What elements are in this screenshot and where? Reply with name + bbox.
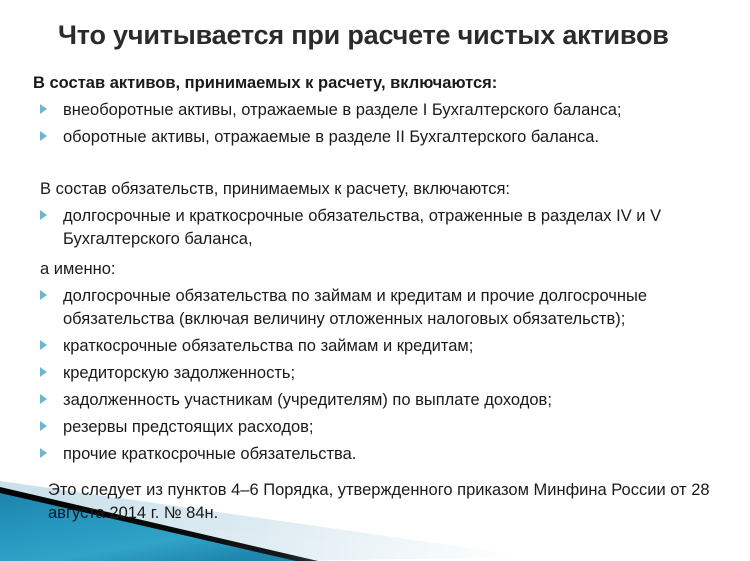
- assets-bullet-2: оборотные активы, отражаемые в разделе I…: [0, 126, 750, 149]
- liabilities-bullet-1-label: долгосрочные и краткосрочные обязательст…: [63, 205, 736, 251]
- obligation-bullet-1-label: долгосрочные обязательства по займам и к…: [63, 285, 736, 331]
- obligation-bullet-6: прочие краткосрочные обязательства.: [0, 443, 750, 466]
- triangle-bullet-icon: [40, 290, 47, 300]
- spacer: [0, 251, 750, 258]
- liabilities-section-lead: В состав обязательств, принимаемых к рас…: [0, 178, 750, 201]
- liabilities-bullet-1: долгосрочные и краткосрочные обязательст…: [0, 205, 750, 251]
- obligation-bullet-6-label: прочие краткосрочные обязательства.: [63, 443, 736, 466]
- obligation-bullet-4-label: задолженность участникам (учредителям) п…: [63, 389, 736, 412]
- obligation-bullet-3-label: кредиторскую задолженность;: [63, 362, 736, 385]
- triangle-bullet-icon: [40, 131, 47, 141]
- source-reference-text: Это следует из пунктов 4–6 Порядка, утве…: [0, 479, 750, 525]
- triangle-bullet-icon: [40, 421, 47, 431]
- assets-section-lead: В состав активов, принимаемых к расчету,…: [0, 72, 750, 95]
- triangle-bullet-icon: [40, 394, 47, 404]
- triangle-bullet-icon: [40, 448, 47, 458]
- slide-body: В состав активов, принимаемых к расчету,…: [0, 72, 750, 525]
- obligation-bullet-5: резервы предстоящих расходов;: [0, 416, 750, 439]
- obligation-bullet-2-label: краткосрочные обязательства по займам и …: [63, 335, 736, 358]
- namely-note: а именно:: [0, 258, 750, 281]
- obligation-bullet-3: кредиторскую задолженность;: [0, 362, 750, 385]
- section-spacer: [0, 149, 750, 178]
- triangle-bullet-icon: [40, 340, 47, 350]
- obligation-bullet-2: краткосрочные обязательства по займам и …: [0, 335, 750, 358]
- triangle-bullet-icon: [40, 367, 47, 377]
- slide-canvas: Что учитывается при расчете чистых актив…: [0, 0, 750, 561]
- obligation-bullet-4: задолженность участникам (учредителям) п…: [0, 389, 750, 412]
- triangle-bullet-icon: [40, 104, 47, 114]
- assets-bullet-1: внеоборотные активы, отражаемые в раздел…: [0, 99, 750, 122]
- assets-bullet-2-label: оборотные активы, отражаемые в разделе I…: [63, 126, 736, 149]
- obligation-bullet-1: долгосрочные обязательства по займам и к…: [0, 285, 750, 331]
- assets-bullet-1-label: внеоборотные активы, отражаемые в раздел…: [63, 99, 736, 122]
- obligation-bullet-5-label: резервы предстоящих расходов;: [63, 416, 736, 439]
- triangle-bullet-icon: [40, 210, 47, 220]
- section-spacer: [0, 466, 750, 479]
- slide-title: Что учитывается при расчете чистых актив…: [58, 20, 718, 52]
